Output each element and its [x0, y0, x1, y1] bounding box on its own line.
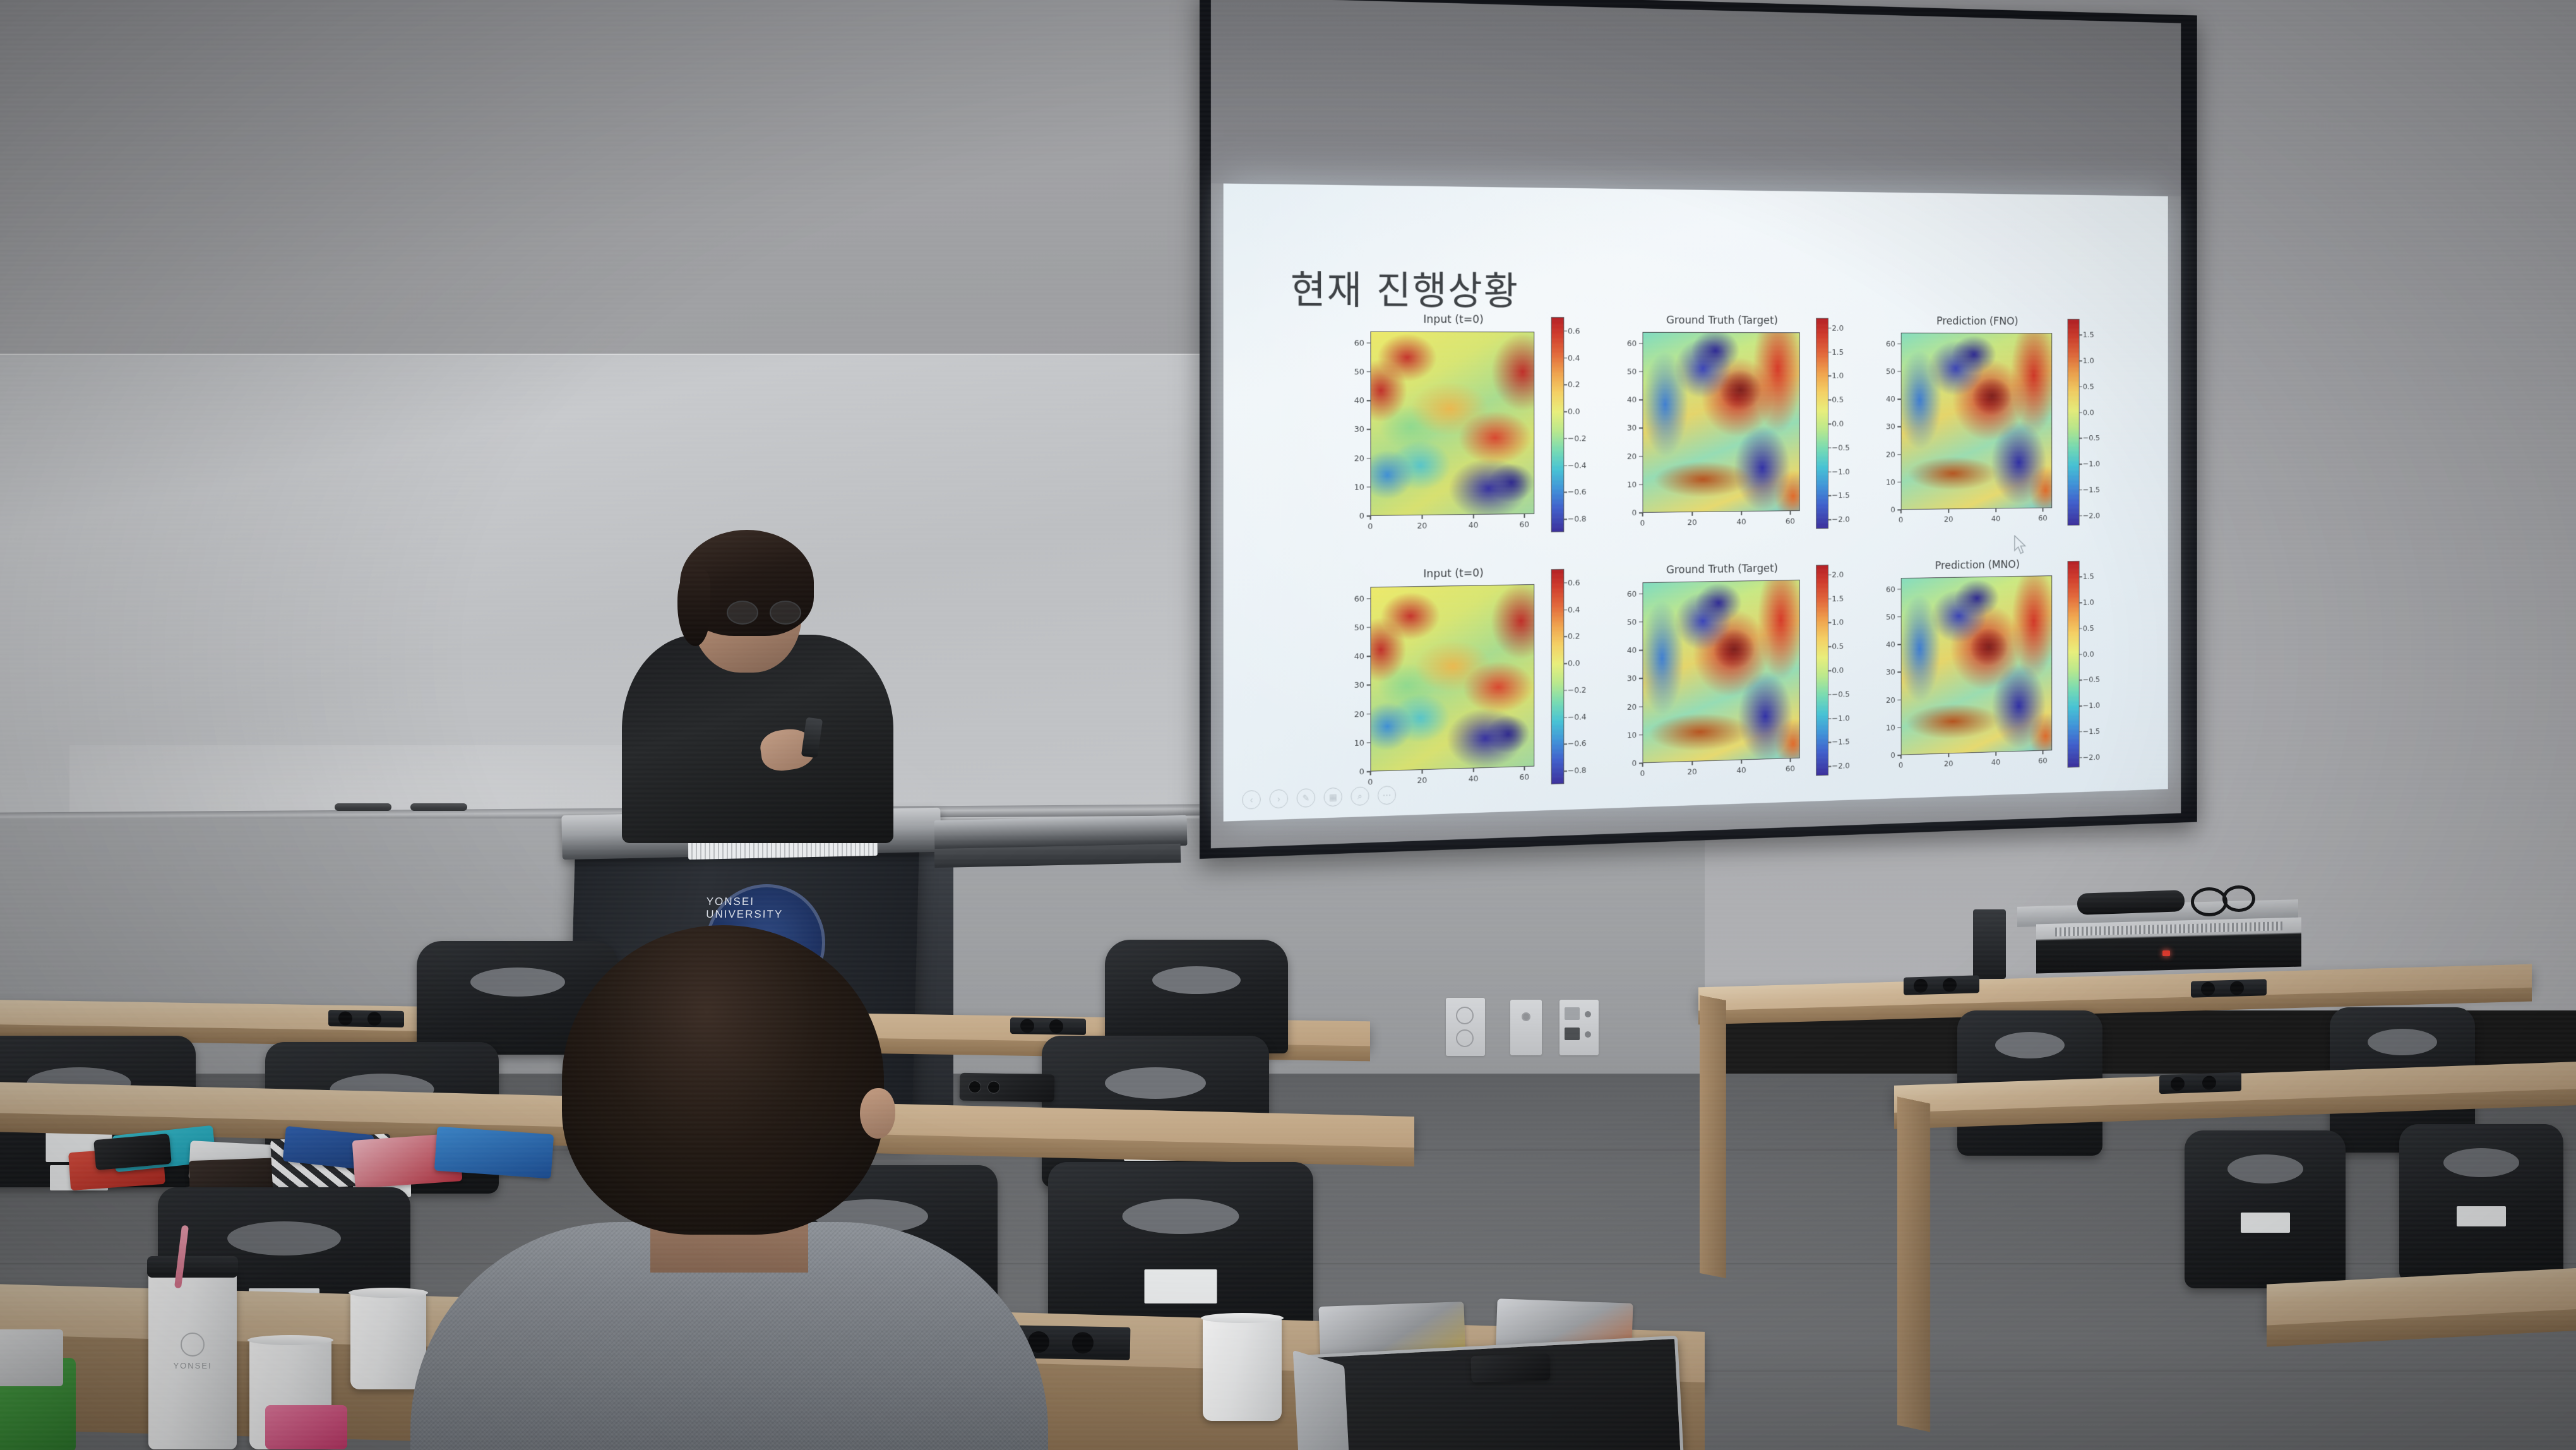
- plot-axes: [1370, 584, 1534, 772]
- y-axis-tick-label: 60: [1627, 339, 1637, 348]
- x-axis-tick-mark: [1995, 508, 1996, 512]
- colorbar-tick-label: −2.0: [1832, 761, 1849, 770]
- colorbar-tick-label: 1.5: [1832, 347, 1844, 356]
- colorbar-tick-label: 0.2: [1568, 632, 1580, 641]
- plot-ground-truth-row1: Ground Truth (Target) 010203040506002040…: [1614, 311, 1846, 550]
- plot-title: Prediction (FNO): [1897, 315, 2058, 328]
- colorbar-tick-mark: [1563, 636, 1567, 637]
- presentation-slide[interactable]: 현재 진행상황 Input (t=0) 01020304050600204060…: [1224, 184, 2168, 822]
- colorbar-tick-mark: [2079, 680, 2082, 681]
- y-axis-tick-label: 40: [1886, 395, 1895, 404]
- plot-axes: [1370, 332, 1534, 516]
- x-axis-tick-label: 40: [1736, 766, 1746, 776]
- colorbar-tick-label: −0.2: [1568, 434, 1587, 443]
- x-axis-tick-mark: [1422, 515, 1422, 519]
- audience-ear: [860, 1088, 895, 1139]
- colorbar-tick-mark: [1563, 492, 1567, 493]
- x-axis-tick-mark: [1370, 516, 1371, 520]
- y-axis-tick-label: 10: [1354, 482, 1364, 492]
- colorbar-tick-mark: [1828, 646, 1831, 647]
- x-axis-tick-label: 20: [1687, 518, 1696, 528]
- y-axis-tick-label: 50: [1886, 367, 1895, 376]
- desk-power-outlet[interactable]: [1904, 975, 1979, 995]
- wireless-mic: [2077, 890, 2185, 915]
- white-package: [0, 1329, 63, 1386]
- colorbar-tick-mark: [2079, 361, 2082, 361]
- colorbar-tick-mark: [1828, 694, 1831, 695]
- x-axis-tick-mark: [1691, 762, 1692, 765]
- colorbar-tick-label: 0.5: [2083, 382, 2094, 391]
- x-axis-tick-label: 0: [1368, 522, 1373, 532]
- colorbar-tick-label: −2.0: [2083, 753, 2100, 762]
- x-axis-tick-label: 60: [1786, 764, 1795, 774]
- colorbar-tick-label: 1.0: [1832, 371, 1844, 380]
- colorbar-tick-label: −1.5: [2083, 727, 2100, 736]
- plot-input-t0-row2: Input (t=0) 01020304050600204060 0.60.40…: [1341, 563, 1582, 810]
- colorbar-tick-mark: [1563, 385, 1567, 385]
- colorbar-tick-mark: [2079, 731, 2082, 733]
- colorbar-tick-mark: [1828, 766, 1831, 767]
- tumbler[interactable]: YONSEI: [148, 1266, 237, 1449]
- switch-plate[interactable]: [1510, 1000, 1542, 1055]
- colorbar-tick-mark: [1828, 670, 1831, 671]
- tumbler-lid: [147, 1256, 238, 1278]
- desk-power-outlet[interactable]: [2191, 979, 2267, 997]
- colorbar-tick-label: 0.5: [1832, 642, 1844, 651]
- y-axis-tick-label: 60: [1354, 594, 1364, 603]
- plot-prediction-fno: Prediction (FNO) 01020304050600204060 1.…: [1874, 312, 2096, 546]
- classroom-photo-scene: 현재 진행상황 Input (t=0) 01020304050600204060…: [0, 0, 2576, 1450]
- colorbar-tick-label: 0.0: [1568, 407, 1580, 417]
- presenter-hair-side: [677, 570, 710, 646]
- presenter-person: [603, 540, 906, 837]
- colorbar-tick-mark: [1563, 438, 1567, 439]
- colorbar-tick-label: 0.0: [1832, 419, 1844, 428]
- y-axis-tick-label: 30: [1354, 425, 1364, 434]
- colorbar-tick-mark: [2079, 438, 2082, 438]
- colorbar-tick-mark: [2079, 602, 2082, 604]
- y-axis-tick-label: 30: [1354, 680, 1364, 690]
- colorbar-tick-mark: [1828, 447, 1831, 448]
- colorbar-tick-mark: [1828, 742, 1831, 743]
- x-axis-tick-label: 20: [1944, 760, 1953, 769]
- y-axis-tick-label: 0: [1890, 751, 1895, 760]
- figure-grid: Input (t=0) 01020304050600204060 0.60.40…: [1341, 310, 2137, 810]
- y-axis-tick-label: 20: [1886, 450, 1895, 459]
- colorbar-tick-mark: [2079, 577, 2082, 577]
- y-axis-tick-label: 30: [1627, 674, 1637, 683]
- projection-screen-frame: 현재 진행상황 Input (t=0) 01020304050600204060…: [1200, 0, 2197, 859]
- next-slide-icon[interactable]: ›: [1270, 789, 1288, 809]
- colorbar-tick-mark: [1563, 357, 1567, 358]
- zoom-icon[interactable]: ⌕: [1351, 786, 1369, 806]
- x-axis-tick-mark: [1370, 772, 1371, 776]
- more-options-icon[interactable]: ⋯: [1378, 786, 1396, 805]
- audience-member: [373, 925, 1080, 1450]
- x-axis-tick-mark: [1948, 753, 1949, 757]
- y-axis-tick-label: 40: [1354, 396, 1364, 405]
- x-axis-tick-label: 40: [1991, 515, 2001, 524]
- colorbar-tick-label: 0.5: [2083, 624, 2094, 633]
- colorbar-tick-label: −0.5: [2083, 675, 2100, 685]
- y-axis-tick-label: 10: [1627, 480, 1637, 489]
- colorbar-tick-label: 0.0: [2083, 408, 2094, 417]
- tumbler-brand-label: YONSEI: [173, 1361, 212, 1370]
- y-axis-tick-label: 0: [1632, 508, 1637, 518]
- colorbar-tick-label: −2.0: [1832, 515, 1849, 524]
- x-axis-tick-label: 60: [1786, 517, 1795, 527]
- y-axis-tick-label: 60: [1354, 338, 1364, 347]
- colorbar-tick-label: −1.5: [2083, 485, 2100, 494]
- y-axis-tick-label: 20: [1886, 695, 1895, 705]
- colorbar-tick-mark: [1828, 598, 1831, 599]
- x-axis-tick-label: 60: [1519, 520, 1529, 530]
- x-axis-tick-label: 0: [1640, 519, 1645, 529]
- heatmap-surface: [1902, 333, 2052, 510]
- plot-axes: [1643, 332, 1800, 513]
- x-axis-tick-label: 40: [1469, 774, 1479, 784]
- coiled-cable: [2191, 887, 2227, 916]
- x-axis-tick-mark: [1900, 755, 1901, 759]
- pink-item: [265, 1405, 347, 1449]
- x-axis-tick-mark: [1741, 512, 1741, 515]
- x-axis-tick-label: 60: [1519, 773, 1529, 782]
- colorbar-tick-label: 1.5: [1832, 594, 1844, 604]
- plot-axes: [1901, 333, 2053, 510]
- x-axis-tick-mark: [1790, 511, 1791, 515]
- colorbar-tick-label: −0.8: [1568, 766, 1587, 776]
- pen-icon[interactable]: ✎: [1297, 788, 1315, 808]
- colorbar-tick-mark: [1828, 376, 1831, 376]
- colorbar-tick-mark: [2079, 654, 2082, 655]
- colorbar-tick-label: −0.4: [1568, 461, 1587, 470]
- plot-title: Ground Truth (Target): [1638, 561, 1806, 577]
- colorbar-tick-mark: [1563, 465, 1567, 466]
- colorbar-tick-label: 0.0: [2083, 650, 2094, 659]
- y-axis-tick-label: 50: [1886, 613, 1895, 622]
- colorbar-tick-mark: [1563, 609, 1567, 611]
- screen-upper-dark-area: [1211, 0, 2181, 196]
- plot-input-t0-row1: Input (t=0) 01020304050600204060 0.60.40…: [1341, 310, 1582, 554]
- y-axis-tick-label: 10: [1354, 738, 1364, 748]
- av-power-led: [2162, 950, 2170, 956]
- colorbar-tick-mark: [2079, 464, 2082, 464]
- plot-axes: [1643, 580, 1800, 763]
- y-axis-tick-label: 0: [1890, 505, 1895, 514]
- x-axis-tick-mark: [2042, 751, 2043, 755]
- colorbar-tick-mark: [2079, 515, 2082, 516]
- colorbar-tick-mark: [2079, 412, 2082, 412]
- presenter-glasses: [727, 601, 801, 626]
- x-axis-tick-mark: [1642, 763, 1643, 767]
- x-axis-tick-label: 20: [1944, 515, 1953, 524]
- colorbar-tick-label: −1.0: [2083, 460, 2100, 469]
- colorbar-tick-mark: [1828, 575, 1831, 576]
- heatmap-surface: [1643, 333, 1799, 512]
- colorbar-tick-label: −1.0: [1832, 714, 1849, 723]
- colorbar-tick-mark: [1828, 718, 1831, 719]
- x-axis-tick-mark: [1473, 769, 1474, 772]
- colorbar-tick-mark: [1563, 690, 1567, 692]
- colorbar-tick-mark: [1563, 518, 1567, 520]
- colorbar-tick-mark: [1563, 663, 1567, 664]
- colorbar-tick-mark: [1828, 424, 1831, 424]
- colorbar-tick-label: 0.6: [1568, 578, 1580, 587]
- x-axis-tick-label: 60: [2038, 514, 2047, 523]
- x-axis-tick-mark: [1790, 758, 1791, 762]
- x-axis-tick-label: 60: [2038, 757, 2047, 766]
- colorbar-tick-label: −1.5: [1832, 738, 1849, 747]
- plot-ground-truth-row2: Ground Truth (Target) 010203040506002040…: [1614, 558, 1846, 801]
- previous-slide-icon[interactable]: ‹: [1242, 790, 1261, 810]
- figure-row-2: Input (t=0) 01020304050600204060 0.60.40…: [1341, 554, 2137, 810]
- colorbar-tick-mark: [1828, 400, 1831, 400]
- colorbar-tick-mark: [1828, 519, 1831, 520]
- x-axis-tick-label: 40: [1736, 518, 1746, 527]
- colorbar-tick-label: −0.5: [1832, 443, 1849, 452]
- figure-row-1: Input (t=0) 01020304050600204060 0.60.40…: [1341, 310, 2137, 554]
- y-axis-tick-label: 40: [1354, 652, 1364, 661]
- y-axis-tick-label: 50: [1354, 367, 1364, 376]
- y-axis-tick-label: 60: [1886, 339, 1895, 348]
- x-axis-tick-mark: [1691, 512, 1692, 516]
- colorbar-tick-label: 2.0: [1832, 570, 1844, 580]
- colorbar-tick-mark: [2079, 757, 2082, 758]
- y-axis-tick-label: 20: [1354, 453, 1364, 463]
- plot-title: Input (t=0): [1366, 313, 1541, 327]
- colorbar-tick-label: −0.2: [1568, 685, 1587, 695]
- colorbar: 1.51.00.50.0−0.5−1.0−1.5−2.0: [2068, 319, 2080, 525]
- x-axis-tick-label: 40: [1991, 758, 2001, 767]
- x-axis-tick-mark: [1422, 770, 1422, 774]
- y-axis-tick-label: 50: [1354, 623, 1364, 632]
- colorbar-tick-label: 1.0: [2083, 598, 2094, 607]
- colorbar-tick-mark: [2079, 628, 2082, 629]
- x-axis-tick-label: 0: [1899, 761, 1903, 770]
- chair[interactable]: [2185, 1130, 2346, 1288]
- heatmap-surface: [1371, 585, 1534, 771]
- plot-title: Prediction (MNO): [1897, 558, 2058, 573]
- colorbar-tick-mark: [2079, 335, 2082, 335]
- colorbar-tick-mark: [1563, 744, 1567, 745]
- colorbar: 0.60.40.20.0−0.2−0.4−0.6−0.8: [1551, 569, 1565, 784]
- slide-title: 현재 진행상황: [1291, 258, 1519, 316]
- colorbar-tick-label: −0.4: [1568, 712, 1587, 722]
- y-axis-tick-label: 60: [1886, 585, 1895, 594]
- network-av-plate: [1559, 1000, 1599, 1055]
- colorbar-tick-label: 0.6: [1568, 327, 1580, 336]
- x-axis-tick-label: 20: [1417, 522, 1427, 531]
- y-axis-tick-label: 0: [1359, 767, 1364, 777]
- x-axis-tick-label: 0: [1640, 769, 1645, 779]
- x-axis-tick-mark: [1524, 767, 1525, 770]
- coiled-cable: [2222, 885, 2255, 912]
- colorbar-tick-mark: [1828, 495, 1831, 496]
- x-axis-tick-mark: [2042, 508, 2043, 512]
- y-axis-tick-label: 40: [1886, 640, 1895, 649]
- colorbar-tick-label: −0.5: [1832, 690, 1849, 699]
- colorbar-tick-mark: [2079, 705, 2082, 707]
- x-axis-tick-mark: [1524, 514, 1525, 518]
- colorbar-tick-label: −2.0: [2083, 511, 2100, 520]
- x-axis-tick-mark: [1642, 513, 1643, 517]
- colorbar-tick-mark: [1563, 770, 1567, 772]
- colorbar-tick-mark: [2079, 489, 2082, 490]
- colorbar: 0.60.40.20.0−0.2−0.4−0.6−0.8: [1551, 317, 1565, 532]
- all-slides-icon[interactable]: ▦: [1324, 788, 1342, 807]
- projection-screen-surface: 현재 진행상황 Input (t=0) 01020304050600204060…: [1211, 0, 2181, 848]
- heatmap-surface: [1371, 332, 1534, 515]
- y-axis-tick-label: 20: [1627, 452, 1637, 461]
- tablet-device[interactable]: [1306, 1336, 1688, 1450]
- colorbar-tick-label: −1.0: [2083, 701, 2100, 710]
- y-axis-tick-label: 0: [1359, 512, 1364, 521]
- y-axis-tick-label: 40: [1627, 645, 1637, 655]
- colorbar-tick-label: 1.5: [2083, 572, 2094, 581]
- colorbar-tick-mark: [1563, 717, 1567, 718]
- colorbar-tick-mark: [1828, 328, 1831, 328]
- plot-title: Input (t=0): [1366, 566, 1541, 582]
- colorbar-tick-mark: [1563, 331, 1567, 332]
- audience-hair: [562, 925, 884, 1235]
- x-axis-tick-label: 40: [1469, 521, 1479, 530]
- colorbar-tick-label: −0.6: [1568, 488, 1587, 497]
- power-outlet-plate: [1446, 998, 1485, 1056]
- colorbar: 2.01.51.00.50.0−0.5−1.0−1.5−2.0: [1816, 565, 1828, 776]
- desk-leg: [1897, 1096, 1930, 1432]
- colorbar-tick-mark: [1563, 411, 1567, 412]
- colorbar-tick-label: 2.0: [1832, 324, 1844, 333]
- y-axis-tick-label: 10: [1886, 477, 1895, 486]
- heatmap-surface: [1902, 576, 2052, 755]
- y-axis-tick-label: 40: [1627, 395, 1637, 405]
- colorbar-tick-mark: [1828, 471, 1831, 472]
- y-axis-tick-label: 50: [1627, 618, 1637, 627]
- paper-cup[interactable]: [1203, 1317, 1282, 1421]
- y-axis-tick-label: 30: [1627, 424, 1637, 433]
- smartphone[interactable]: [1470, 1353, 1550, 1382]
- colorbar-tick-label: −1.0: [1832, 467, 1849, 477]
- colorbar: 1.51.00.50.0−0.5−1.0−1.5−2.0: [2068, 561, 2080, 768]
- x-axis-tick-mark: [1948, 509, 1949, 513]
- x-axis-tick-mark: [1900, 510, 1901, 513]
- y-axis-tick-label: 0: [1632, 758, 1637, 768]
- plot-title: Ground Truth (Target): [1638, 314, 1806, 327]
- chair[interactable]: [1048, 1162, 1313, 1339]
- x-axis-tick-mark: [1741, 760, 1741, 764]
- colorbar-tick-mark: [1828, 622, 1831, 623]
- y-axis-tick-label: 50: [1627, 367, 1637, 376]
- y-axis-tick-label: 10: [1627, 731, 1637, 740]
- colorbar-tick-label: −1.5: [1832, 491, 1849, 501]
- y-axis-tick-label: 20: [1627, 702, 1637, 712]
- chair[interactable]: [2399, 1124, 2563, 1282]
- y-axis-tick-label: 30: [1886, 668, 1895, 677]
- whiteboard-marker: [335, 803, 391, 811]
- colorbar-tick-label: 1.5: [2083, 330, 2094, 339]
- colorbar-tick-mark: [1563, 582, 1567, 584]
- plot-prediction-mno: Prediction (MNO) 01020304050600204060 1.…: [1874, 554, 2096, 792]
- y-axis-tick-label: 30: [1886, 422, 1895, 431]
- colorbar-tick-label: 0.2: [1568, 380, 1580, 390]
- x-axis-tick-label: 20: [1687, 767, 1696, 777]
- y-axis-tick-label: 10: [1886, 723, 1895, 733]
- colorbar: 2.01.51.00.50.0−0.5−1.0−1.5−2.0: [1816, 318, 1828, 529]
- colorbar-tick-label: 0.0: [1568, 659, 1580, 668]
- plot-axes: [1901, 575, 2053, 755]
- x-axis-tick-mark: [1995, 752, 1996, 756]
- colorbar-tick-mark: [2079, 386, 2082, 386]
- colorbar-tick-mark: [1828, 352, 1831, 352]
- heatmap-surface: [1643, 580, 1799, 762]
- y-axis-tick-label: 60: [1627, 589, 1637, 599]
- colorbar-tick-label: 1.0: [1832, 618, 1844, 628]
- colorbar-tick-label: −0.5: [2083, 434, 2100, 443]
- whiteboard-marker: [410, 803, 467, 811]
- desk-power-outlet[interactable]: [2159, 1072, 2241, 1094]
- colorbar-tick-label: 0.5: [1832, 395, 1844, 404]
- y-axis-tick-label: 20: [1354, 709, 1364, 719]
- colorbar-tick-label: 0.4: [1568, 605, 1580, 614]
- x-axis-tick-mark: [1473, 515, 1474, 518]
- x-axis-tick-label: 0: [1899, 516, 1903, 525]
- colorbar-tick-label: 0.4: [1568, 354, 1580, 363]
- desk-leg: [1700, 995, 1726, 1278]
- colorbar-tick-label: 0.0: [1832, 666, 1844, 675]
- tumbler-logo: [181, 1333, 205, 1357]
- x-axis-tick-label: 20: [1417, 776, 1427, 786]
- colorbar-tick-label: −0.8: [1568, 515, 1587, 524]
- colorbar-tick-label: −0.6: [1568, 739, 1587, 748]
- av-speaker: [1973, 909, 2006, 979]
- x-axis-tick-label: 0: [1368, 777, 1373, 787]
- colorbar-tick-label: 1.0: [2083, 356, 2094, 365]
